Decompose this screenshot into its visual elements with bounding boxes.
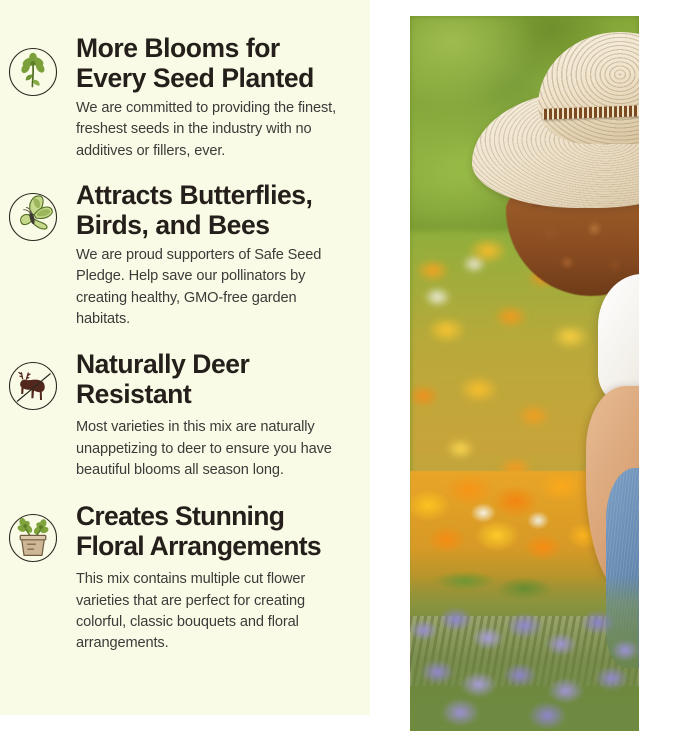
benefit-title: More Blooms for Every Seed Planted xyxy=(76,34,354,93)
lifestyle-photo xyxy=(410,16,640,731)
benefit-item-attracts-pollinators: Attracts Butterflies, Birds, and Bees We… xyxy=(4,181,358,330)
straw-sun-hat xyxy=(472,32,640,210)
benefit-title: Attracts Butterflies, Birds, and Bees xyxy=(76,181,354,240)
benefits-photo-panel: More Blooms for Every Seed Planted We ar… xyxy=(0,0,679,715)
hat-crown xyxy=(538,32,640,144)
benefit-description: We are committed to providing the finest… xyxy=(76,98,354,162)
benefit-title: Naturally Deer Resistant xyxy=(76,350,354,409)
benefit-text-block: Naturally Deer Resistant Most varieties … xyxy=(60,350,358,481)
benefit-description: Most varieties in this mix are naturally… xyxy=(76,417,354,481)
benefit-item-deer-resistant: Naturally Deer Resistant Most varieties … xyxy=(4,350,358,481)
benefit-item-more-blooms: More Blooms for Every Seed Planted We ar… xyxy=(4,34,358,162)
benefit-text-block: Attracts Butterflies, Birds, and Bees We… xyxy=(60,181,358,330)
deer-resistant-icon xyxy=(6,358,60,414)
potted-plant-icon xyxy=(6,510,60,566)
benefits-panel: More Blooms for Every Seed Planted We ar… xyxy=(0,0,370,715)
benefit-item-floral-arrangements: Creates Stunning Floral Arrangements Thi… xyxy=(4,502,358,654)
benefit-description: This mix contains multiple cut flower va… xyxy=(76,569,354,654)
benefit-text-block: More Blooms for Every Seed Planted We ar… xyxy=(60,34,358,162)
benefit-title: Creates Stunning Floral Arrangements xyxy=(76,502,354,561)
flower-sprout-icon xyxy=(6,44,60,100)
lavender-wildflowers xyxy=(410,576,640,731)
benefit-text-block: Creates Stunning Floral Arrangements Thi… xyxy=(60,502,358,654)
benefit-description: We are proud supporters of Safe Seed Ple… xyxy=(76,245,354,330)
butterfly-icon xyxy=(6,189,60,245)
